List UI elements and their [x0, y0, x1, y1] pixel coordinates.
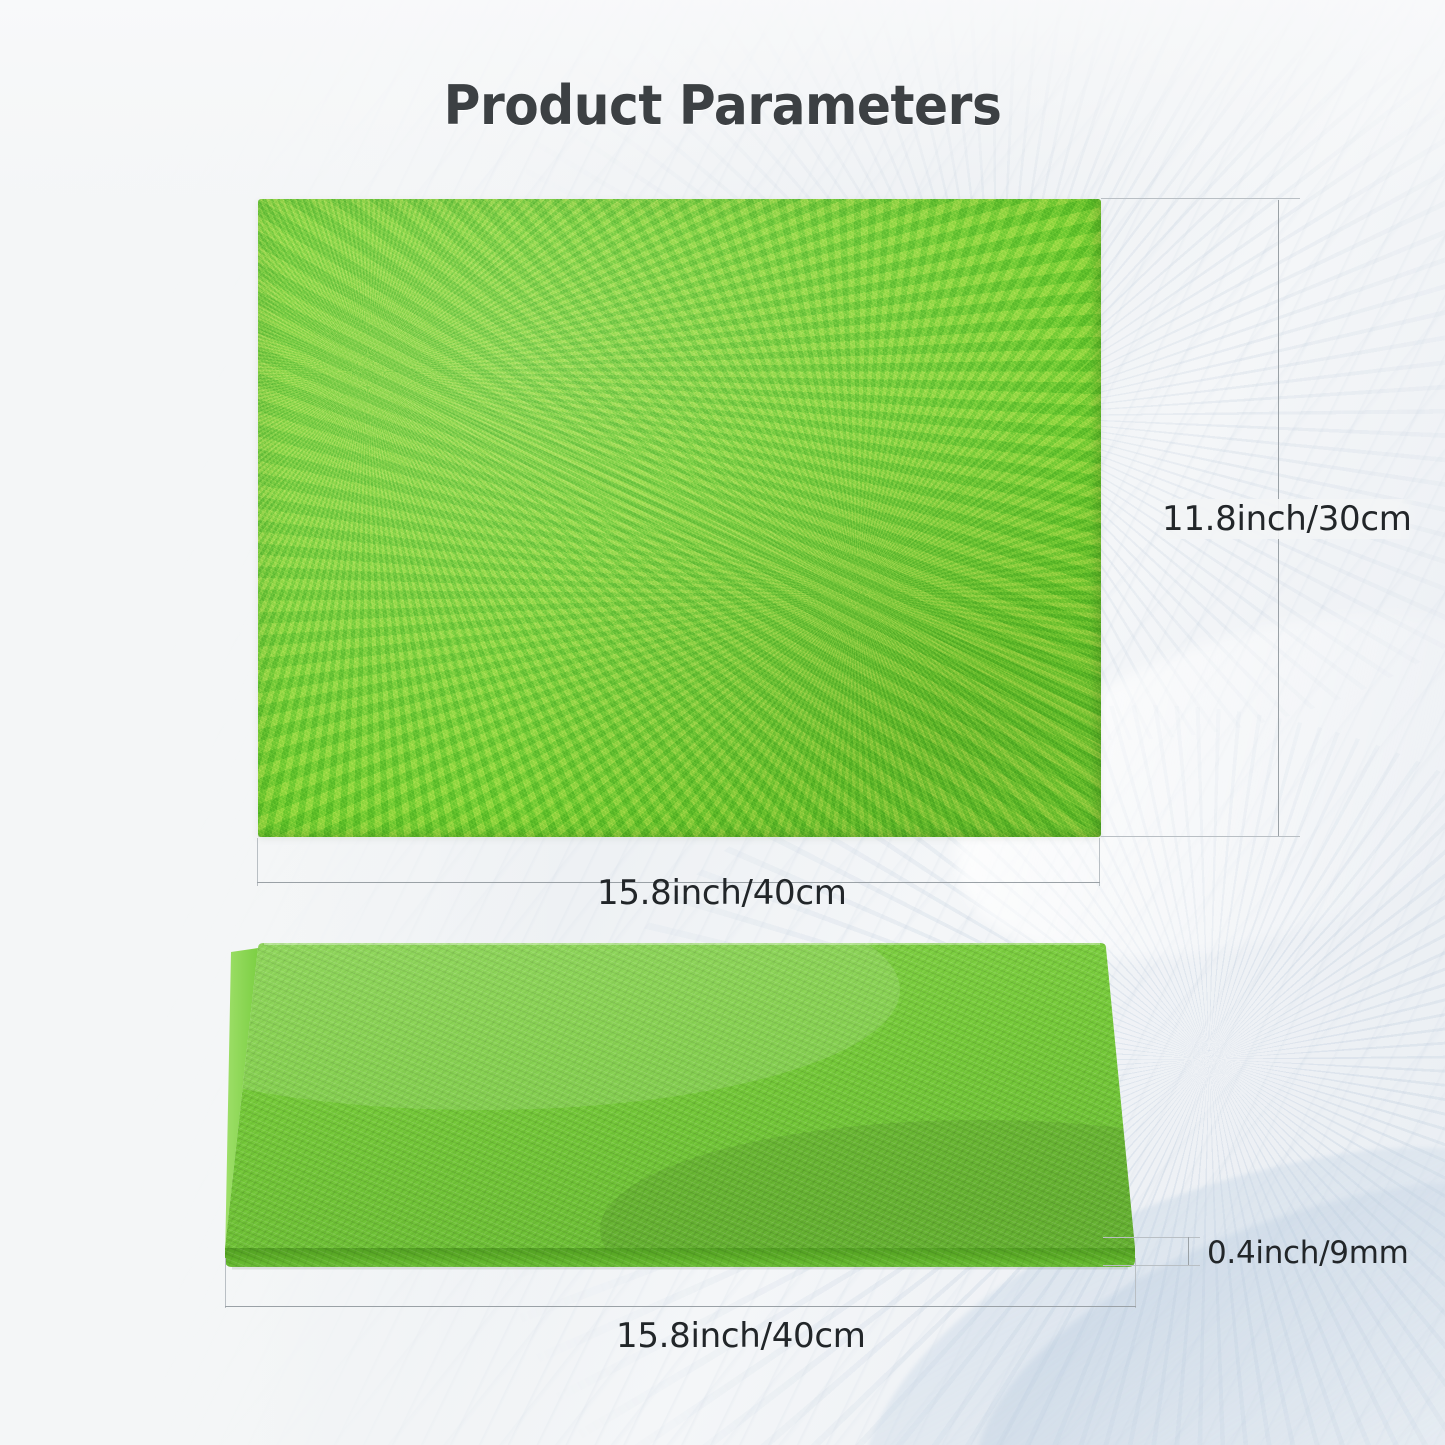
felt-texture-overlay [258, 199, 1101, 837]
height-extension-line-bottom [1101, 836, 1300, 837]
panel-right-edge-shade [1090, 199, 1101, 837]
product-panel-front-view [258, 199, 1101, 837]
page-title: Product Parameters [51, 74, 1395, 137]
product-parameters-image: Product Parameters 11.8inch/30cm 15.8inc… [0, 0, 1445, 1445]
perspective-width-extension-line-left [225, 1258, 226, 1308]
perspective-width-extension-line-right [1135, 1258, 1136, 1308]
width-dimension-label: 15.8inch/40cm [597, 873, 847, 913]
width-extension-line-right [1099, 838, 1100, 886]
panel-bottom-edge-shade [258, 828, 1101, 837]
perspective-panel-shape [180, 930, 1190, 1280]
thickness-extension-line-top [1103, 1237, 1200, 1238]
product-panel-perspective-view [180, 930, 1190, 1280]
thickness-dimension-label: 0.4inch/9mm [1207, 1235, 1409, 1271]
perspective-width-dimension-label: 15.8inch/40cm [616, 1316, 866, 1356]
height-extension-line-top [1101, 198, 1300, 199]
perspective-width-dimension-line [225, 1306, 1136, 1307]
width-extension-line-left [257, 838, 258, 886]
height-dimension-label: 11.8inch/30cm [1158, 499, 1416, 539]
thickness-dimension-line [1188, 1237, 1189, 1265]
thickness-extension-line-bottom [1103, 1265, 1200, 1266]
